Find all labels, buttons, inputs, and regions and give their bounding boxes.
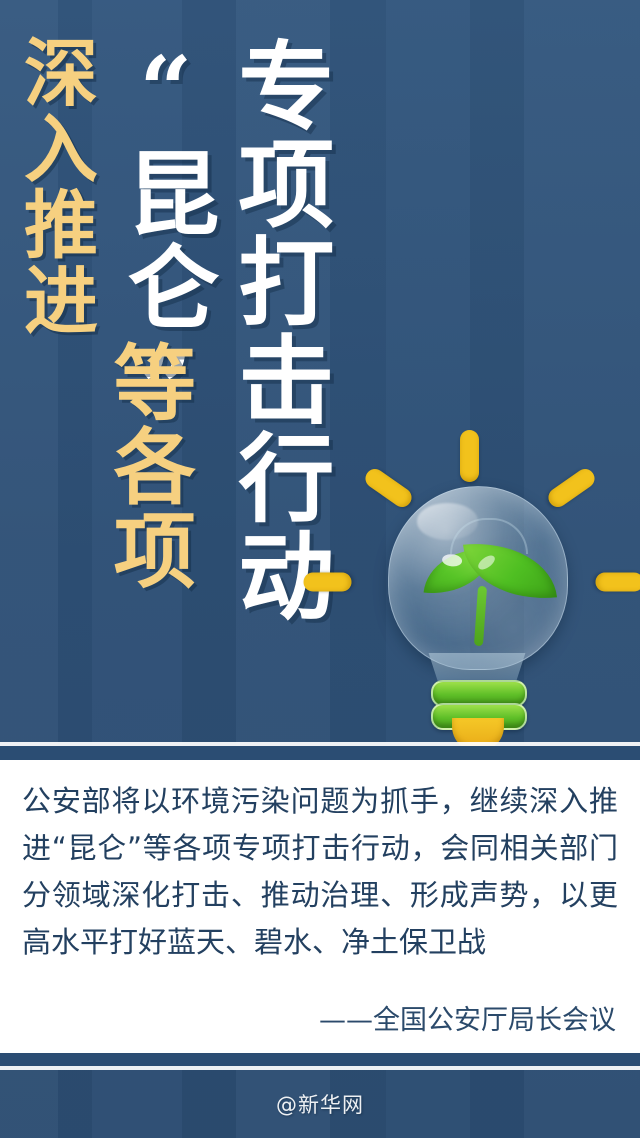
divider-top-band (0, 746, 640, 760)
light-ray-left (304, 573, 352, 592)
light-ray-right (596, 573, 640, 592)
headline-column-3: 等各项 (104, 340, 189, 592)
light-ray-upper-right (545, 465, 598, 510)
poster-root: 深入推进 “昆仑” 等各项 专项打击行动 公安部将以环境污染问题为抓手，继续深入… (0, 0, 640, 1138)
headline-column-2: “昆仑” (118, 36, 212, 444)
footer: @新华网 (0, 1070, 640, 1138)
headline-column-1: 深入推进 (16, 34, 91, 338)
quote-body: 公安部将以环境污染问题为抓手，继续深入推进“昆仑”等各项专项打击行动，会同相关部… (22, 778, 618, 966)
divider-bottom-band (0, 1053, 640, 1066)
quote-card: 公安部将以环境污染问题为抓手，继续深入推进“昆仑”等各项专项打击行动，会同相关部… (0, 760, 640, 1053)
light-ray-upper-left (362, 465, 415, 510)
light-ray-top (460, 430, 479, 482)
source-watermark: @新华网 (276, 1089, 364, 1119)
quote-attribution: ——全国公安厅局长会议 (319, 998, 616, 1037)
eco-lightbulb-icon (300, 418, 640, 748)
